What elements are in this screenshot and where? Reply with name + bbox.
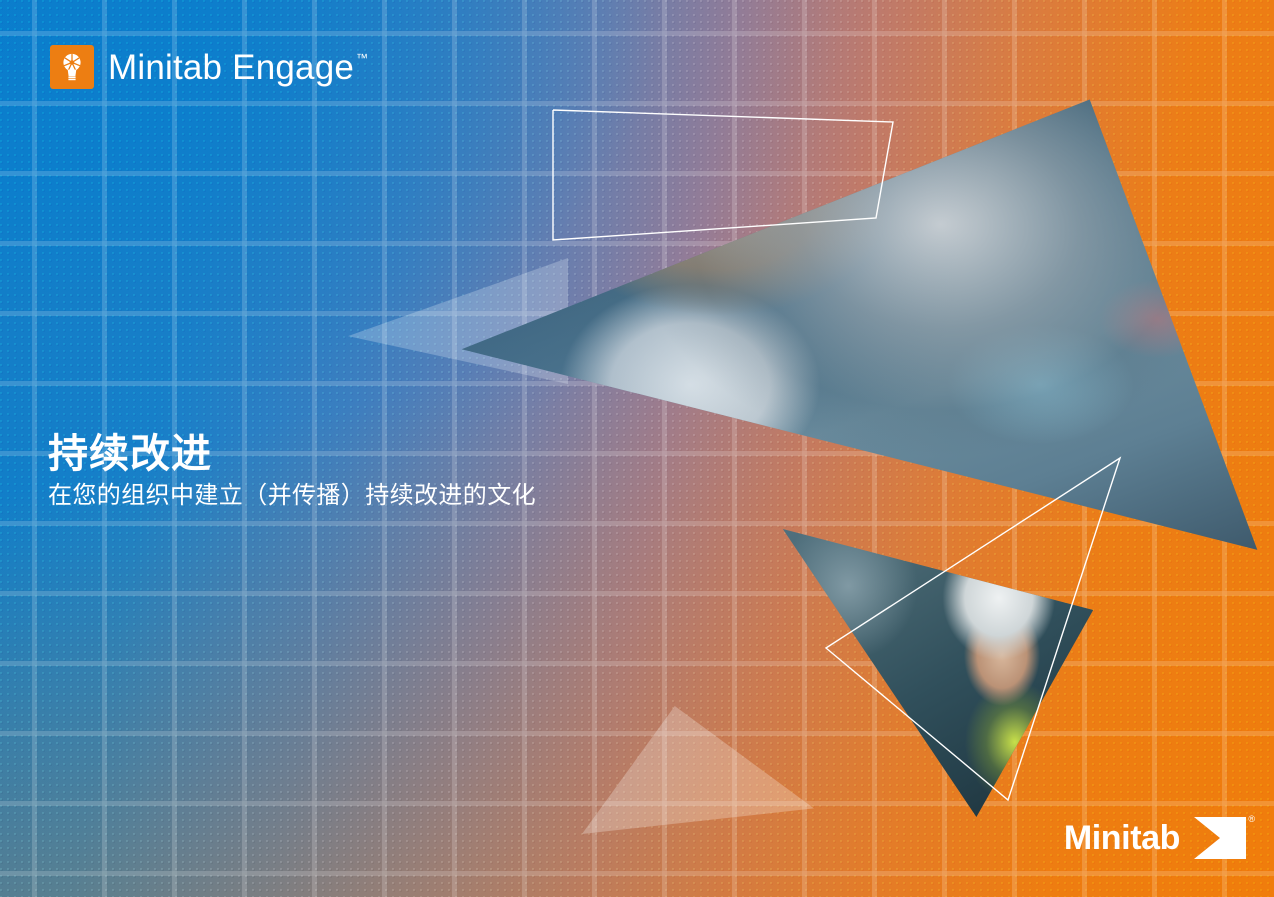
white-outline-triangle	[820, 452, 1150, 812]
product-name-text: Minitab Engage	[108, 50, 354, 85]
product-name-lockup: Minitab Engage ™	[108, 50, 368, 85]
lightbulb-icon	[59, 52, 85, 82]
page-title: 持续改进	[48, 432, 536, 477]
registered-symbol: ®	[1248, 815, 1255, 824]
trademark-symbol: ™	[356, 52, 368, 64]
minitab-arrow-icon	[1194, 817, 1246, 859]
white-outline-quad	[548, 100, 908, 260]
minitab-brand-lockup: Minitab ®	[1064, 817, 1246, 859]
hero-text-block: 持续改进 在您的组织中建立（并传播）持续改进的文化	[48, 432, 536, 511]
product-logo-lockup[interactable]: Minitab Engage ™	[50, 45, 368, 89]
brand-name-text: Minitab	[1064, 821, 1180, 855]
page-subtitle: 在您的组织中建立（并传播）持续改进的文化	[48, 481, 536, 511]
minitab-engage-app-tile[interactable]	[50, 45, 94, 89]
cover-canvas: Minitab Engage ™ 持续改进 在您的组织中建立（并传播）持续改进的…	[0, 0, 1274, 897]
minitab-arrow-mark: ®	[1194, 817, 1246, 859]
